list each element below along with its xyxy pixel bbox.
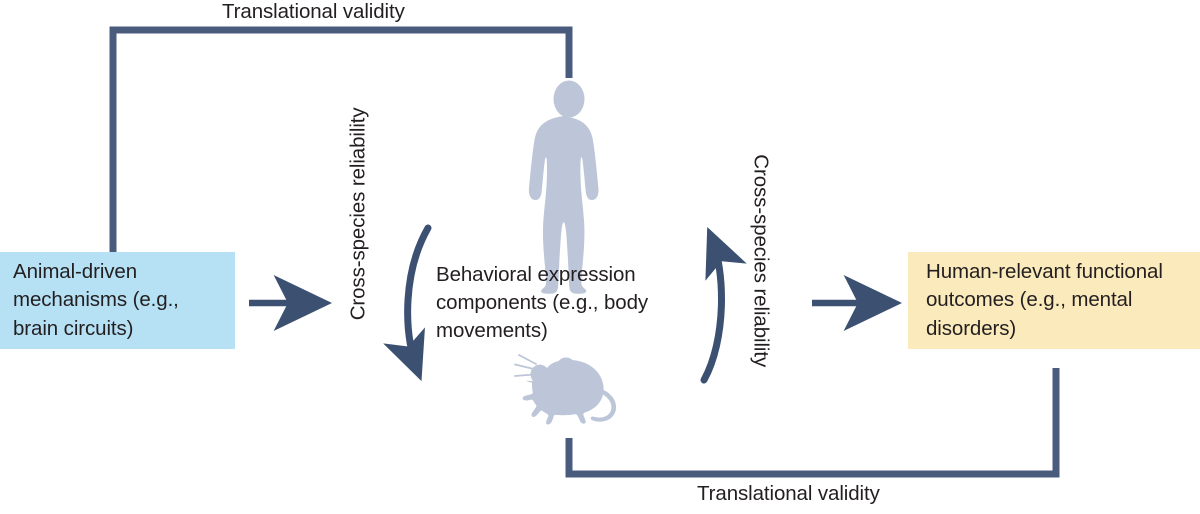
- translational-validity-top-label: Translational validity: [222, 0, 405, 24]
- translational-validity-top-line: [113, 30, 569, 252]
- translational-validity-bottom-label: Translational validity: [697, 482, 880, 506]
- animal-driven-mechanisms-box[interactable]: Animal-driven mechanisms (e.g., brain ci…: [0, 252, 235, 349]
- cross-species-reliability-left-label: Cross-species reliability: [347, 160, 372, 320]
- arrow-cross-species-left: [408, 228, 428, 372]
- cross-species-reliability-right-label: Cross-species reliability: [748, 154, 773, 314]
- animal-driven-mechanisms-label: Animal-driven mechanisms (e.g., brain ci…: [13, 258, 227, 343]
- human-relevant-outcomes-box[interactable]: Human-relevant functional outcomes (e.g.…: [908, 252, 1200, 349]
- behavioral-expression-components-box[interactable]: Behavioral expression components (e.g., …: [436, 258, 716, 348]
- human-relevant-outcomes-label: Human-relevant functional outcomes (e.g.…: [926, 258, 1192, 343]
- behavioral-expression-components-label: Behavioral expression components (e.g., …: [436, 261, 716, 346]
- mouse-icon: [515, 355, 616, 425]
- translational-validity-bottom-line: [569, 368, 1056, 474]
- diagram-canvas: Animal-driven mechanisms (e.g., brain ci…: [0, 0, 1200, 514]
